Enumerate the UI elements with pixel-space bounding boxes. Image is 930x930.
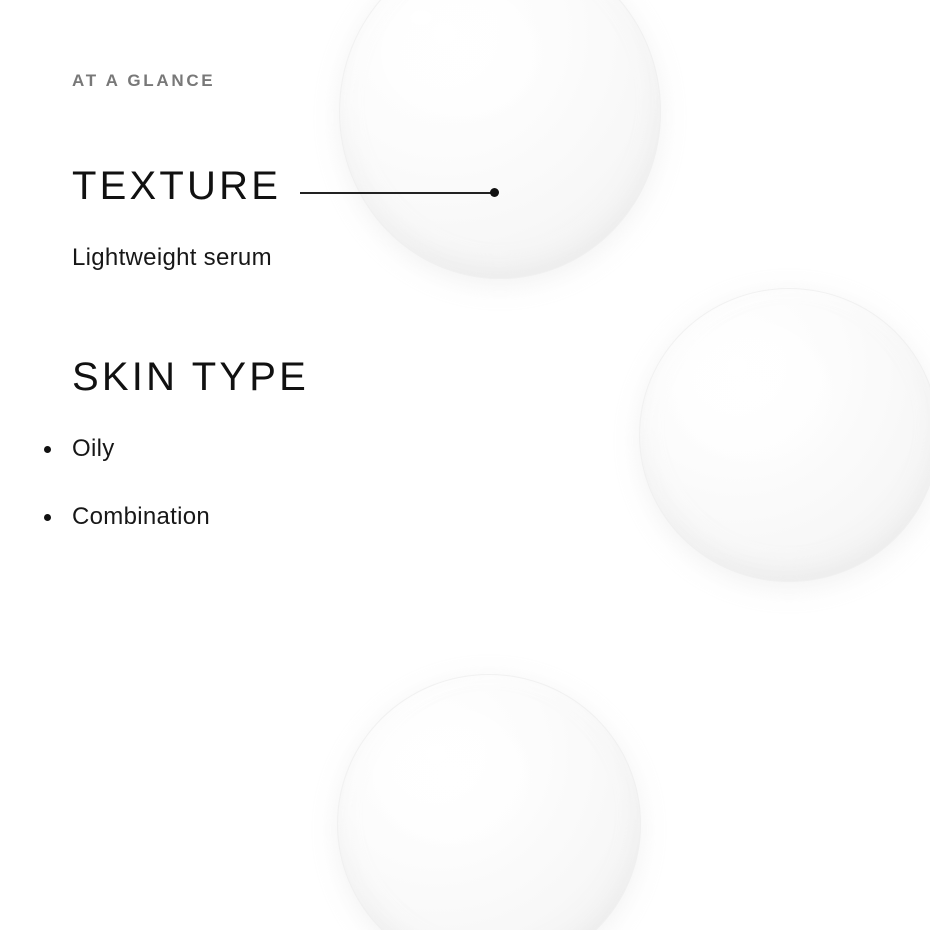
connector-line <box>300 192 496 194</box>
bullet-dot-icon <box>44 446 51 453</box>
list-item: Oily <box>44 432 210 500</box>
at-a-glance-panel: AT A GLANCE TEXTURE Lightweight serum SK… <box>0 0 930 930</box>
section-heading-texture: TEXTURE <box>72 166 281 206</box>
connector-dot-icon <box>490 188 499 197</box>
section-heading-skin-type: SKIN TYPE <box>72 357 309 397</box>
list-item-label: Oily <box>72 435 115 462</box>
texture-callout-connector <box>300 188 499 198</box>
bullet-dot-icon <box>44 514 51 521</box>
texture-value-text: Lightweight serum <box>72 246 272 270</box>
skin-type-list: Oily Combination <box>44 432 210 568</box>
list-item-label: Combination <box>72 503 210 530</box>
content-layer: AT A GLANCE TEXTURE Lightweight serum SK… <box>0 0 930 930</box>
eyebrow-label: AT A GLANCE <box>72 72 215 89</box>
list-item: Combination <box>44 500 210 568</box>
